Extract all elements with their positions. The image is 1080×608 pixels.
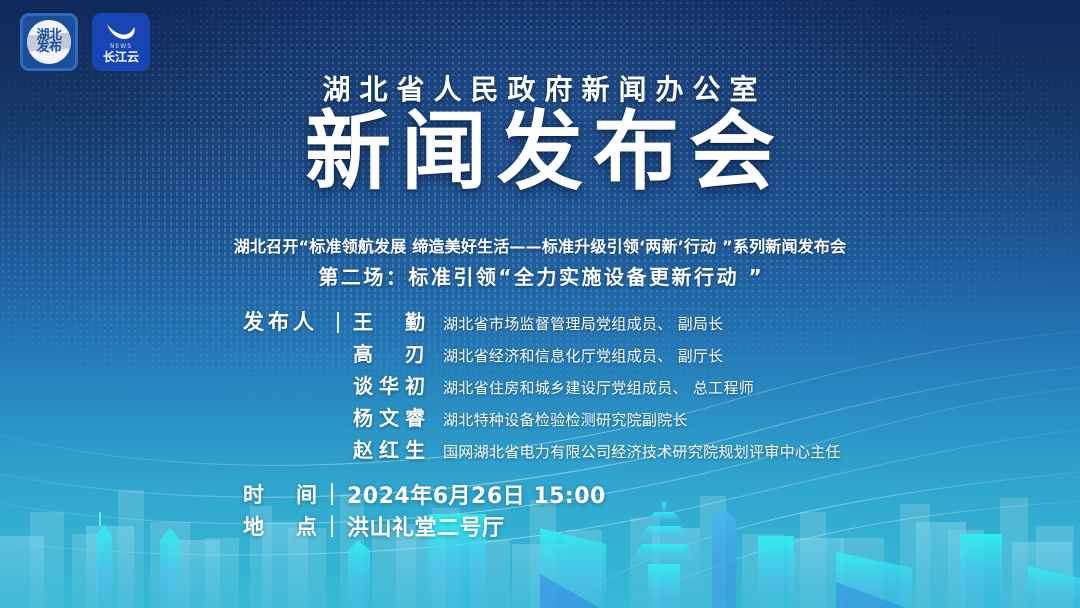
speaker-name: 谈华初	[353, 370, 425, 399]
poster-content: 湖北省人民政府新闻办公室 新闻发布会 湖北召开“标准领航发展 缔造美好生活——标…	[0, 0, 1080, 608]
speaker-row: 杨文睿 湖北特种设备检验检测研究院副院长	[243, 402, 1080, 434]
speaker-name: 杨文睿	[353, 402, 425, 431]
speaker-name: 王 勤	[353, 306, 425, 335]
hubei-release-logo[interactable]: 湖北 发布	[20, 13, 78, 71]
hubei-release-logo-text: 湖北 发布	[36, 30, 61, 55]
divider-spacer	[337, 344, 339, 365]
speaker-title: 国网湖北省电力有限公司经济技术研究院规划评审中心主任	[443, 441, 841, 462]
changjiang-cloud-logo[interactable]: NEWS 长江云	[92, 13, 150, 71]
press-conference-poster: 湖北 发布 NEWS 长江云 湖北省人民政府新闻办公室 新闻发布会 湖北召开“标…	[0, 0, 1080, 608]
event-meta: 时间 2024年6月26日 15:00 地点 洪山礼堂二号厅	[0, 478, 1080, 542]
speaker-name: 赵红生	[353, 434, 425, 463]
divider	[331, 515, 333, 537]
place-label: 地点	[243, 511, 317, 541]
session-subtitle: 第二场：标准引领“全力实施设备更新行动 ”	[0, 261, 1080, 290]
hubei-release-logo-line2: 发布	[36, 40, 61, 55]
page-title: 新闻发布会	[0, 104, 1080, 200]
divider	[331, 483, 333, 505]
changjiang-cloud-news-text: NEWS	[110, 43, 132, 50]
speaker-row: 谈华初 湖北省住房和城乡建设厅党组成员、 总工程师	[243, 370, 1080, 402]
changjiang-cloud-logo-text: 长江云	[103, 51, 139, 63]
divider	[337, 312, 339, 333]
hubei-release-disc: 湖北 发布	[27, 20, 71, 64]
speaker-title: 湖北省住房和城乡建设厅党组成员、 总工程师	[443, 377, 754, 398]
speaker-title: 湖北省市场监督管理局党组成员、 副局长	[443, 313, 723, 334]
divider-spacer	[337, 440, 339, 461]
series-subtitle: 湖北召开“标准领航发展 缔造美好生活——标准升级引领‘两新’行动 ”系列新闻发布…	[0, 233, 1080, 257]
divider-spacer	[337, 408, 339, 429]
speaker-title: 湖北特种设备检验检测研究院副院长	[443, 409, 688, 430]
place-value: 洪山礼堂二号厅	[347, 510, 505, 542]
speaker-name: 高 刃	[353, 338, 425, 367]
time-label: 时间	[243, 479, 317, 509]
speaker-list: 发布人 王 勤 湖北省市场监督管理局党组成员、 副局长 高 刃 湖北省经济和信息…	[0, 306, 1080, 466]
time-value: 2024年6月26日 15:00	[347, 478, 606, 510]
speaker-title: 湖北省经济和信息化厅党组成员、 副厅长	[443, 345, 723, 366]
speaker-row: 发布人 王 勤 湖北省市场监督管理局党组成员、 副局长	[243, 306, 1080, 338]
event-time-row: 时间 2024年6月26日 15:00	[243, 478, 1080, 510]
cloud-swoosh-icon	[104, 22, 138, 42]
speaker-row: 高 刃 湖北省经济和信息化厅党组成员、 副厅长	[243, 338, 1080, 370]
logo-group: 湖北 发布 NEWS 长江云	[20, 13, 150, 71]
speaker-row: 赵红生 国网湖北省电力有限公司经济技术研究院规划评审中心主任	[243, 434, 1080, 466]
event-place-row: 地点 洪山礼堂二号厅	[243, 510, 1080, 542]
speakers-label: 发布人	[243, 306, 337, 336]
divider-spacer	[337, 376, 339, 397]
